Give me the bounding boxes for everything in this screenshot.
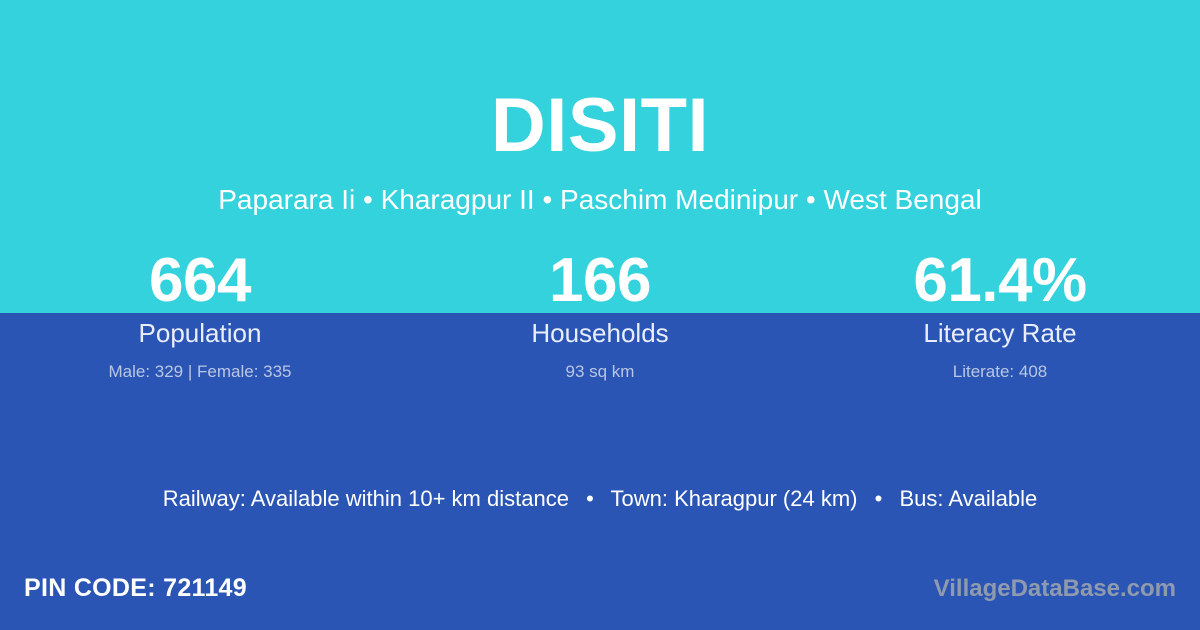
footer: PIN CODE: 721149 VillageDataBase.com [0,558,1200,630]
pin-code: PIN CODE: 721149 [24,572,247,604]
stat-sublabel: Literate: 408 [800,361,1200,383]
stat-households: 166 Households 93 sq km [400,248,800,383]
amenity-bus: Bus: Available [899,486,1037,511]
stats-row: 664 Population Male: 329 | Female: 335 1… [0,248,1200,383]
stat-label: Households [400,316,800,350]
stat-population: 664 Population Male: 329 | Female: 335 [0,248,400,383]
stat-label: Literacy Rate [800,316,1200,350]
stat-value: 664 [0,248,400,314]
amenity-railway: Railway: Available within 10+ km distanc… [163,486,569,511]
stat-literacy-rate: 61.4% Literacy Rate Literate: 408 [800,248,1200,383]
stat-value: 166 [400,248,800,314]
stat-sublabel: Male: 329 | Female: 335 [0,361,400,383]
amenities-row: Railway: Available within 10+ km distanc… [0,484,1200,514]
stat-value: 61.4% [800,248,1200,314]
stat-label: Population [0,316,400,350]
breadcrumb: Paparara Ii • Kharagpur II • Paschim Med… [0,183,1200,217]
brand-watermark: VillageDataBase.com [934,574,1176,604]
bullet-separator-icon: • [575,484,605,514]
bullet-separator-icon: • [864,484,894,514]
stat-sublabel: 93 sq km [400,361,800,383]
page-title: DISITI [0,82,1200,170]
village-info-card: DISITI Paparara Ii • Kharagpur II • Pasc… [0,0,1200,630]
amenity-town: Town: Kharagpur (24 km) [610,486,857,511]
